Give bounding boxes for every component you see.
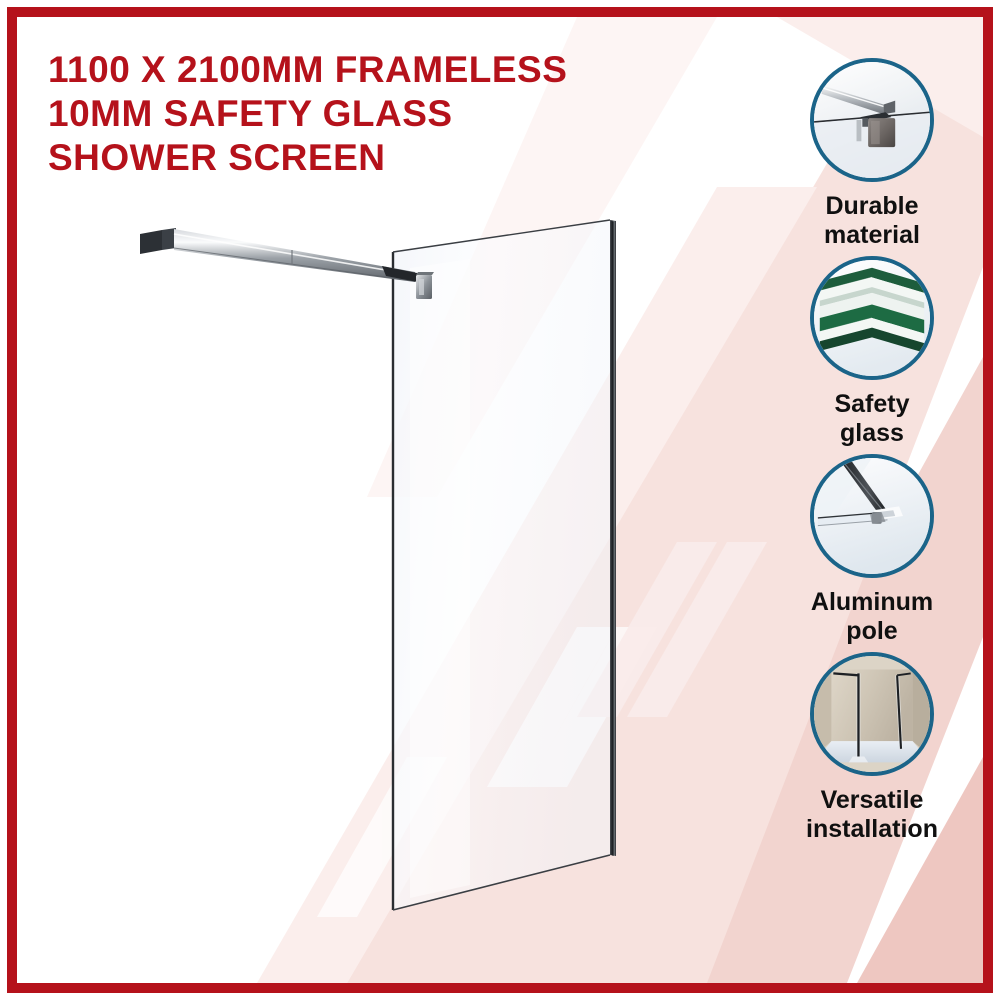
wall-mount-bracket [140,230,162,254]
shower-screen-graphic [110,180,680,940]
feature-label-safety-glass: Safety glass [766,390,978,448]
title-line-3: SHOWER SCREEN [48,136,668,180]
feature-label-durable-material: Durable material [766,192,978,250]
feature-label-versatile-installation: Versatile installation [766,786,978,844]
title-line-2: 10MM SAFETY GLASS [48,92,668,136]
feature-item-aluminum-pole[interactable]: Aluminum pole [766,454,978,646]
bracket-clamp-graphic [814,62,930,178]
aluminum-support-pole-icon [810,454,934,578]
feature-item-durable-material[interactable]: Durable material [766,58,978,250]
feature-label-aluminum-pole: Aluminum pole [766,588,978,646]
support-bar [174,229,415,282]
page-title: 1100 X 2100MM FRAMELESS 10MM SAFETY GLAS… [48,48,668,180]
bathroom-installation-graphic [814,656,930,772]
laminated-glass-layers-icon [810,256,934,380]
aluminum-pole-graphic [814,458,930,574]
bracket-clamp-icon [810,58,934,182]
feature-item-safety-glass[interactable]: Safety glass [766,256,978,448]
product-illustration [110,180,680,940]
laminated-glass-graphic [814,260,930,376]
product-poster: 1100 X 2100MM FRAMELESS 10MM SAFETY GLAS… [0,0,1000,1000]
title-line-1: 1100 X 2100MM FRAMELESS [48,48,668,92]
feature-list: Durable material [766,58,978,850]
bathroom-installation-icon [810,652,934,776]
feature-item-versatile-installation[interactable]: Versatile installation [766,652,978,844]
